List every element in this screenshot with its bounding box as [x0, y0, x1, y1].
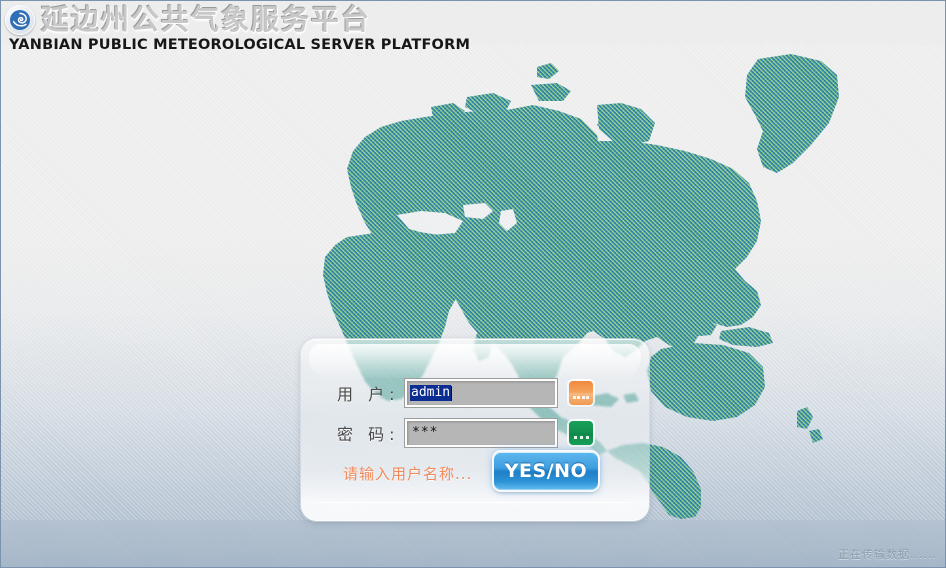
- page-title-cn: 延边州公共气象服务平台: [41, 4, 371, 36]
- validation-message: 请输入用户名称...: [343, 463, 472, 484]
- username-row: 用 户: admin: [337, 379, 593, 407]
- password-input[interactable]: ***: [405, 419, 557, 447]
- submit-button[interactable]: YES/NO: [494, 452, 598, 490]
- text-caret: [451, 386, 452, 401]
- password-label: 密 码:: [337, 421, 405, 445]
- login-form: 用 户: admin 密 码: *** 请输入用户名称...: [301, 339, 649, 521]
- typhoon-spiral-icon: [5, 5, 35, 35]
- green-mini-button[interactable]: [569, 421, 593, 445]
- login-panel: 用 户: admin 密 码: *** 请输入用户名称...: [301, 339, 649, 521]
- orange-button-dots: [572, 395, 590, 399]
- login-page: 延边州公共气象服务平台 YANBIAN PUBLIC METEOROLOGICA…: [0, 0, 946, 568]
- green-button-dots: [572, 435, 590, 439]
- page-header: 延边州公共气象服务平台 YANBIAN PUBLIC METEOROLOGICA…: [1, 1, 470, 53]
- username-input[interactable]: admin: [405, 379, 557, 407]
- page-title-en: YANBIAN PUBLIC METEOROLOGICAL SERVER PLA…: [9, 37, 470, 53]
- username-label: 用 户:: [337, 381, 405, 405]
- orange-mini-button[interactable]: [569, 381, 593, 405]
- status-text: 正在传输数据......: [838, 546, 937, 562]
- username-value: admin: [410, 385, 451, 401]
- password-row: 密 码: ***: [337, 419, 593, 447]
- password-value: ***: [412, 425, 438, 441]
